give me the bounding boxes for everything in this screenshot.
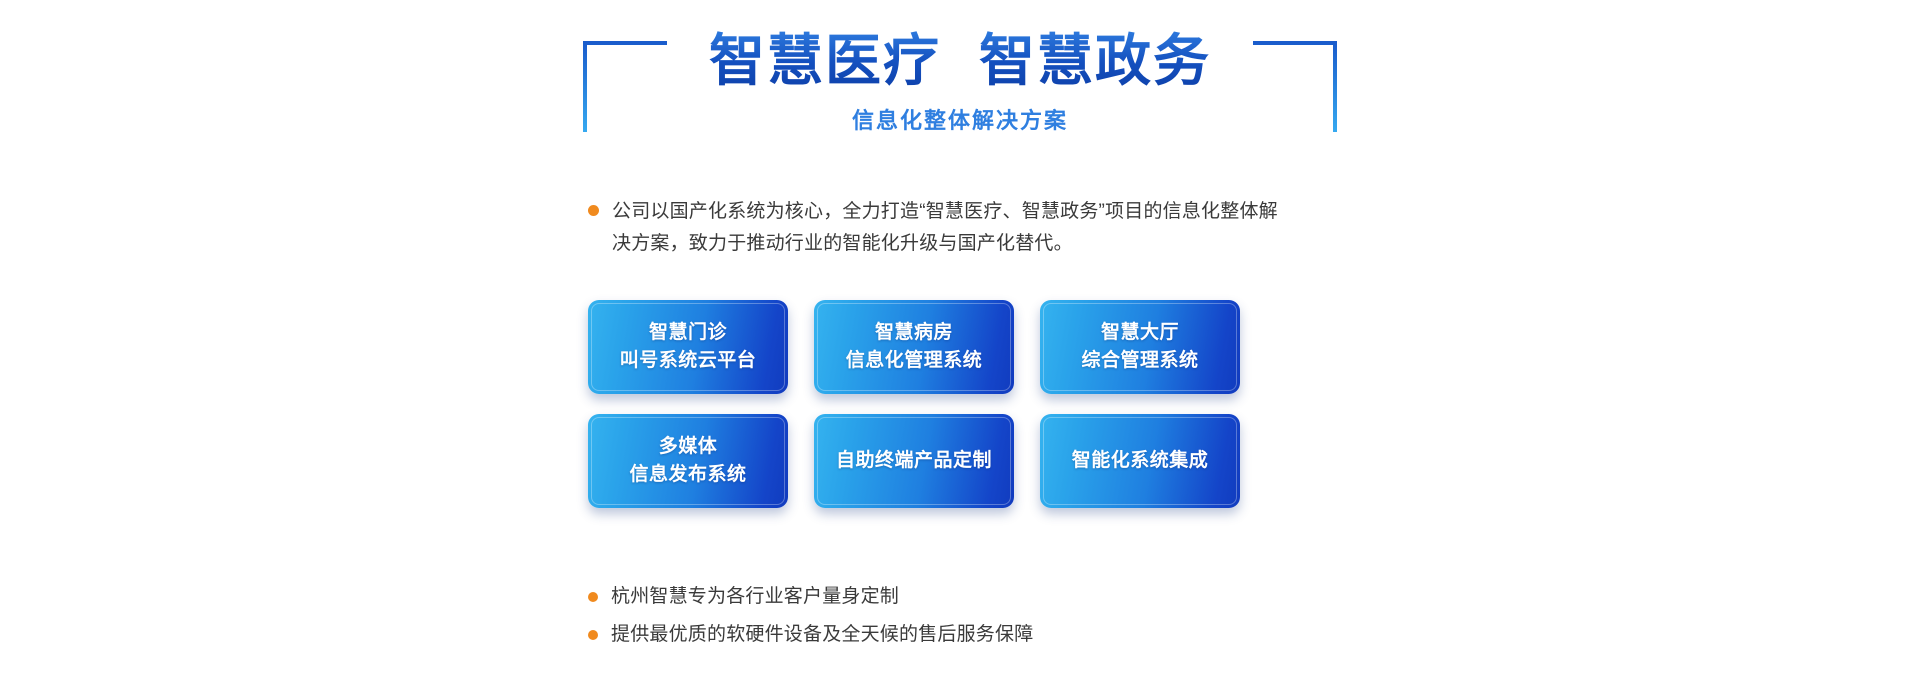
title-main-left: 智慧医疗	[709, 29, 941, 92]
solution-card-label: 智慧大厅 综合管理系统	[1073, 319, 1206, 375]
solution-card-label: 智慧门诊 叫号系统云平台	[612, 319, 765, 375]
solution-card[interactable]: 多媒体 信息发布系统	[588, 414, 788, 508]
card-label-line2: 叫号系统云平台	[620, 347, 757, 375]
solution-card-label: 智能化系统集成	[1064, 447, 1217, 475]
solution-card[interactable]: 智能化系统集成	[1040, 414, 1240, 508]
page-title: 智慧医疗智慧政务	[575, 28, 1345, 94]
card-label-line1: 智慧门诊	[649, 322, 727, 343]
bullet-dot-icon	[588, 630, 598, 640]
solution-card-label: 自助终端产品定制	[828, 447, 1000, 475]
solution-card[interactable]: 自助终端产品定制	[814, 414, 1014, 508]
page-subtitle: 信息化整体解决方案	[575, 106, 1345, 136]
solution-card[interactable]: 智慧大厅 综合管理系统	[1040, 300, 1240, 394]
card-label-line1: 智慧病房	[875, 322, 953, 343]
solution-card-grid: 智慧门诊 叫号系统云平台 智慧病房 信息化管理系统 智慧大厅 综合管理系统 多媒…	[588, 300, 1340, 508]
banner-canvas: 智慧医疗智慧政务 信息化整体解决方案 公司以国产化系统为核心，全力打造“智慧医疗…	[0, 0, 1920, 680]
lead-paragraph-text: 公司以国产化系统为核心，全力打造“智慧医疗、智慧政务”项目的信息化整体解决方案，…	[612, 196, 1288, 260]
solution-card[interactable]: 智慧病房 信息化管理系统	[814, 300, 1014, 394]
solution-card[interactable]: 智慧门诊 叫号系统云平台	[588, 300, 788, 394]
card-label-line2: 综合管理系统	[1081, 347, 1198, 375]
title-block: 智慧医疗智慧政务 信息化整体解决方案	[575, 28, 1345, 143]
page-subtitle-text: 信息化整体解决方案	[838, 106, 1082, 136]
card-label-line1: 智慧大厅	[1101, 322, 1179, 343]
footer-bullet-text: 杭州智慧专为各行业客户量身定制	[611, 583, 899, 611]
bullet-dot-icon	[588, 205, 599, 216]
footer-bullet-list: 杭州智慧专为各行业客户量身定制 提供最优质的软硬件设备及全天候的售后服务保障	[588, 578, 1308, 654]
card-label-line1: 多媒体	[659, 436, 718, 457]
card-label-line2: 信息发布系统	[629, 461, 746, 489]
footer-bullet-item: 提供最优质的软硬件设备及全天候的售后服务保障	[588, 616, 1308, 654]
lead-paragraph: 公司以国产化系统为核心，全力打造“智慧医疗、智慧政务”项目的信息化整体解决方案，…	[588, 196, 1288, 260]
card-label-line2: 信息化管理系统	[846, 347, 983, 375]
solution-card-label: 多媒体 信息发布系统	[621, 433, 754, 489]
title-main-right: 智慧政务	[979, 29, 1211, 92]
footer-bullet-item: 杭州智慧专为各行业客户量身定制	[588, 578, 1308, 616]
card-label-line1: 智能化系统集成	[1072, 450, 1209, 471]
solution-card-label: 智慧病房 信息化管理系统	[838, 319, 991, 375]
bullet-dot-icon	[588, 592, 598, 602]
footer-bullet-text: 提供最优质的软硬件设备及全天候的售后服务保障	[611, 621, 1033, 649]
card-label-line1: 自助终端产品定制	[836, 450, 992, 471]
